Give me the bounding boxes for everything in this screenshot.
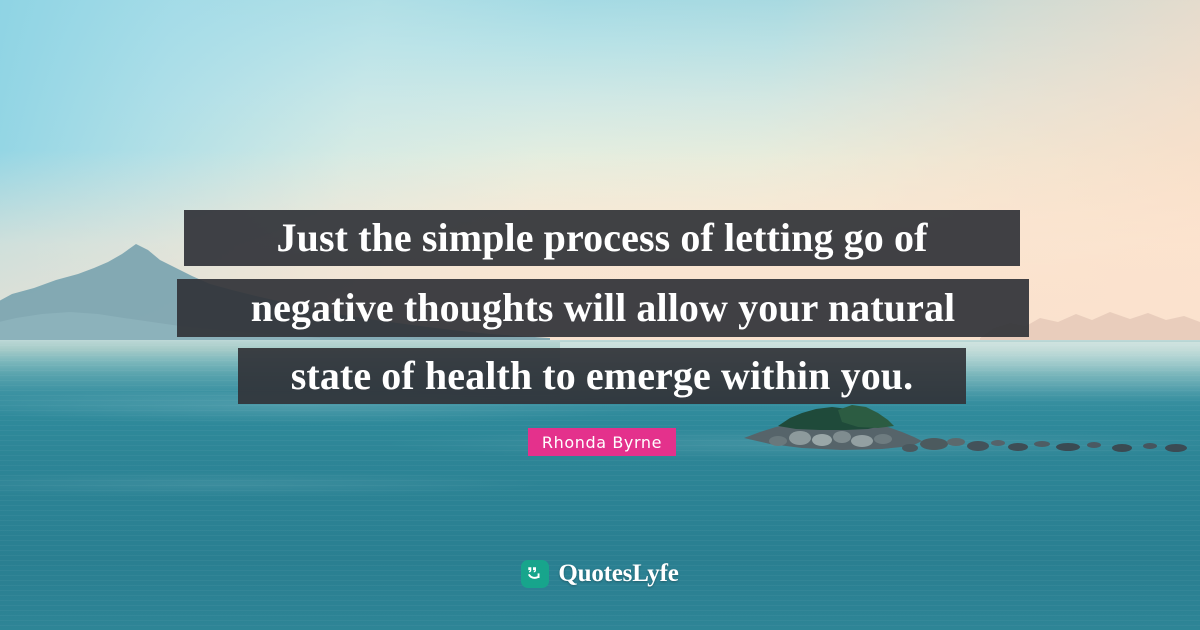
quote-line-3: state of health to emerge within you. bbox=[238, 348, 966, 404]
quote-author-badge: Rhonda Byrne bbox=[528, 428, 676, 456]
brand-name: QuotesLyfe bbox=[558, 560, 678, 588]
quote-line-2: negative thoughts will allow your natura… bbox=[177, 279, 1029, 337]
quote-smiley-icon bbox=[521, 560, 549, 588]
quote-line-1: Just the simple process of letting go of bbox=[184, 210, 1020, 266]
brand-footer[interactable]: QuotesLyfe bbox=[0, 556, 1200, 592]
quote-card: Just the simple process of letting go of… bbox=[0, 0, 1200, 630]
quote-block: Just the simple process of letting go of… bbox=[0, 0, 1200, 630]
